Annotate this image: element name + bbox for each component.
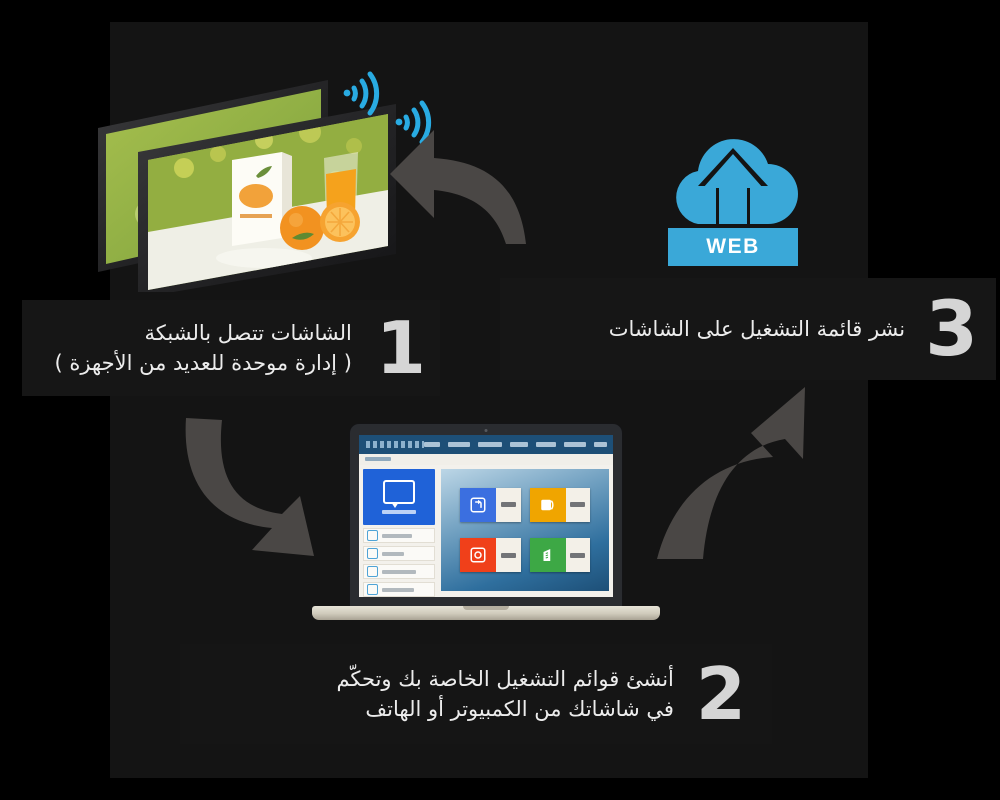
nav-link[interactable]	[564, 442, 586, 447]
wifi-signal-icon	[344, 74, 377, 113]
grid-icon	[367, 548, 378, 559]
sidebar-feature-card[interactable]	[363, 469, 435, 525]
sidebar-item[interactable]	[363, 582, 435, 597]
calendar-icon	[367, 584, 378, 595]
nav-link[interactable]	[510, 442, 528, 447]
clock-icon	[367, 566, 378, 577]
step-1-line-1: الشاشات تتصل بالشبكة	[145, 321, 352, 345]
app-tile-label	[566, 488, 591, 522]
app-sidebar	[363, 469, 435, 593]
app-logo	[366, 441, 424, 448]
step-1-label: 1 الشاشات تتصل بالشبكة ( إدارة موحدة للع…	[22, 300, 440, 396]
app-tile[interactable]	[460, 538, 521, 572]
sidebar-item[interactable]	[363, 546, 435, 561]
document-icon	[530, 538, 566, 572]
arrow-laptop-to-web	[655, 385, 805, 565]
web-cloud-badge: WEB	[664, 128, 802, 268]
media-player-icon	[460, 488, 496, 522]
nav-link[interactable]	[448, 442, 470, 447]
sidebar-item-label	[382, 534, 412, 538]
laptop-notch	[463, 606, 509, 610]
app-tile[interactable]	[530, 488, 591, 522]
step-1-line-2: ( إدارة موحدة للعديد من الأجهزة )	[22, 348, 352, 378]
breadcrumb-text	[365, 457, 391, 461]
step-2-text: أنشئ قوائم التشغيل الخاصة بك وتحكّم في ش…	[180, 664, 674, 725]
nav-link[interactable]	[536, 442, 556, 447]
arrow-screens-to-web	[388, 126, 528, 246]
laptop-computer	[312, 424, 660, 624]
step-3-number: 3	[925, 291, 978, 367]
webcam-dot	[485, 429, 488, 432]
infographic-canvas: WEB	[0, 0, 1000, 800]
step-2-number: 2	[696, 658, 746, 730]
list-icon	[367, 530, 378, 541]
sidebar-card-label	[382, 510, 416, 514]
nav-link[interactable]	[424, 442, 440, 447]
app-tile[interactable]	[530, 538, 591, 572]
step-3-line-1: نشر قائمة التشغيل على الشاشات	[609, 317, 905, 341]
sidebar-item-label	[382, 588, 414, 592]
app-tile[interactable]	[460, 488, 521, 522]
sidebar-item[interactable]	[363, 564, 435, 579]
app-tile-label	[566, 538, 591, 572]
photo-frame-icon	[460, 538, 496, 572]
step-1-text: الشاشات تتصل بالشبكة ( إدارة موحدة للعدي…	[22, 318, 358, 379]
laptop-screen	[359, 435, 613, 597]
web-badge-label: WEB	[668, 228, 798, 266]
gallery-icon	[530, 488, 566, 522]
step-1-number: 1	[376, 312, 426, 384]
step-2-line-1: أنشئ قوائم التشغيل الخاصة بك وتحكّم	[336, 667, 673, 691]
cloud-upload-icon	[664, 128, 802, 230]
app-main-content	[441, 469, 609, 591]
sidebar-item-label	[382, 570, 416, 574]
app-tile-label	[496, 538, 521, 572]
sidebar-item[interactable]	[363, 528, 435, 543]
app-nav-links	[424, 442, 607, 447]
sidebar-item-label	[382, 552, 404, 556]
app-top-nav	[359, 435, 613, 454]
app-tile-grid	[450, 478, 600, 582]
app-tile-label	[496, 488, 521, 522]
nav-link[interactable]	[594, 442, 607, 447]
nav-link[interactable]	[478, 442, 502, 447]
laptop-lid	[350, 424, 622, 608]
step-2-label: 2 أنشئ قوائم التشغيل الخاصة بك وتحكّم في…	[180, 644, 772, 744]
step-3-text: نشر قائمة التشغيل على الشاشات	[500, 314, 909, 344]
arrow-screens-to-laptop	[178, 416, 328, 566]
speech-bubble-icon	[383, 480, 415, 504]
step-3-label: 3 نشر قائمة التشغيل على الشاشات	[500, 278, 996, 380]
app-body	[359, 465, 613, 597]
step-2-line-2: في شاشاتك من الكمبيوتر أو الهاتف	[180, 694, 674, 724]
